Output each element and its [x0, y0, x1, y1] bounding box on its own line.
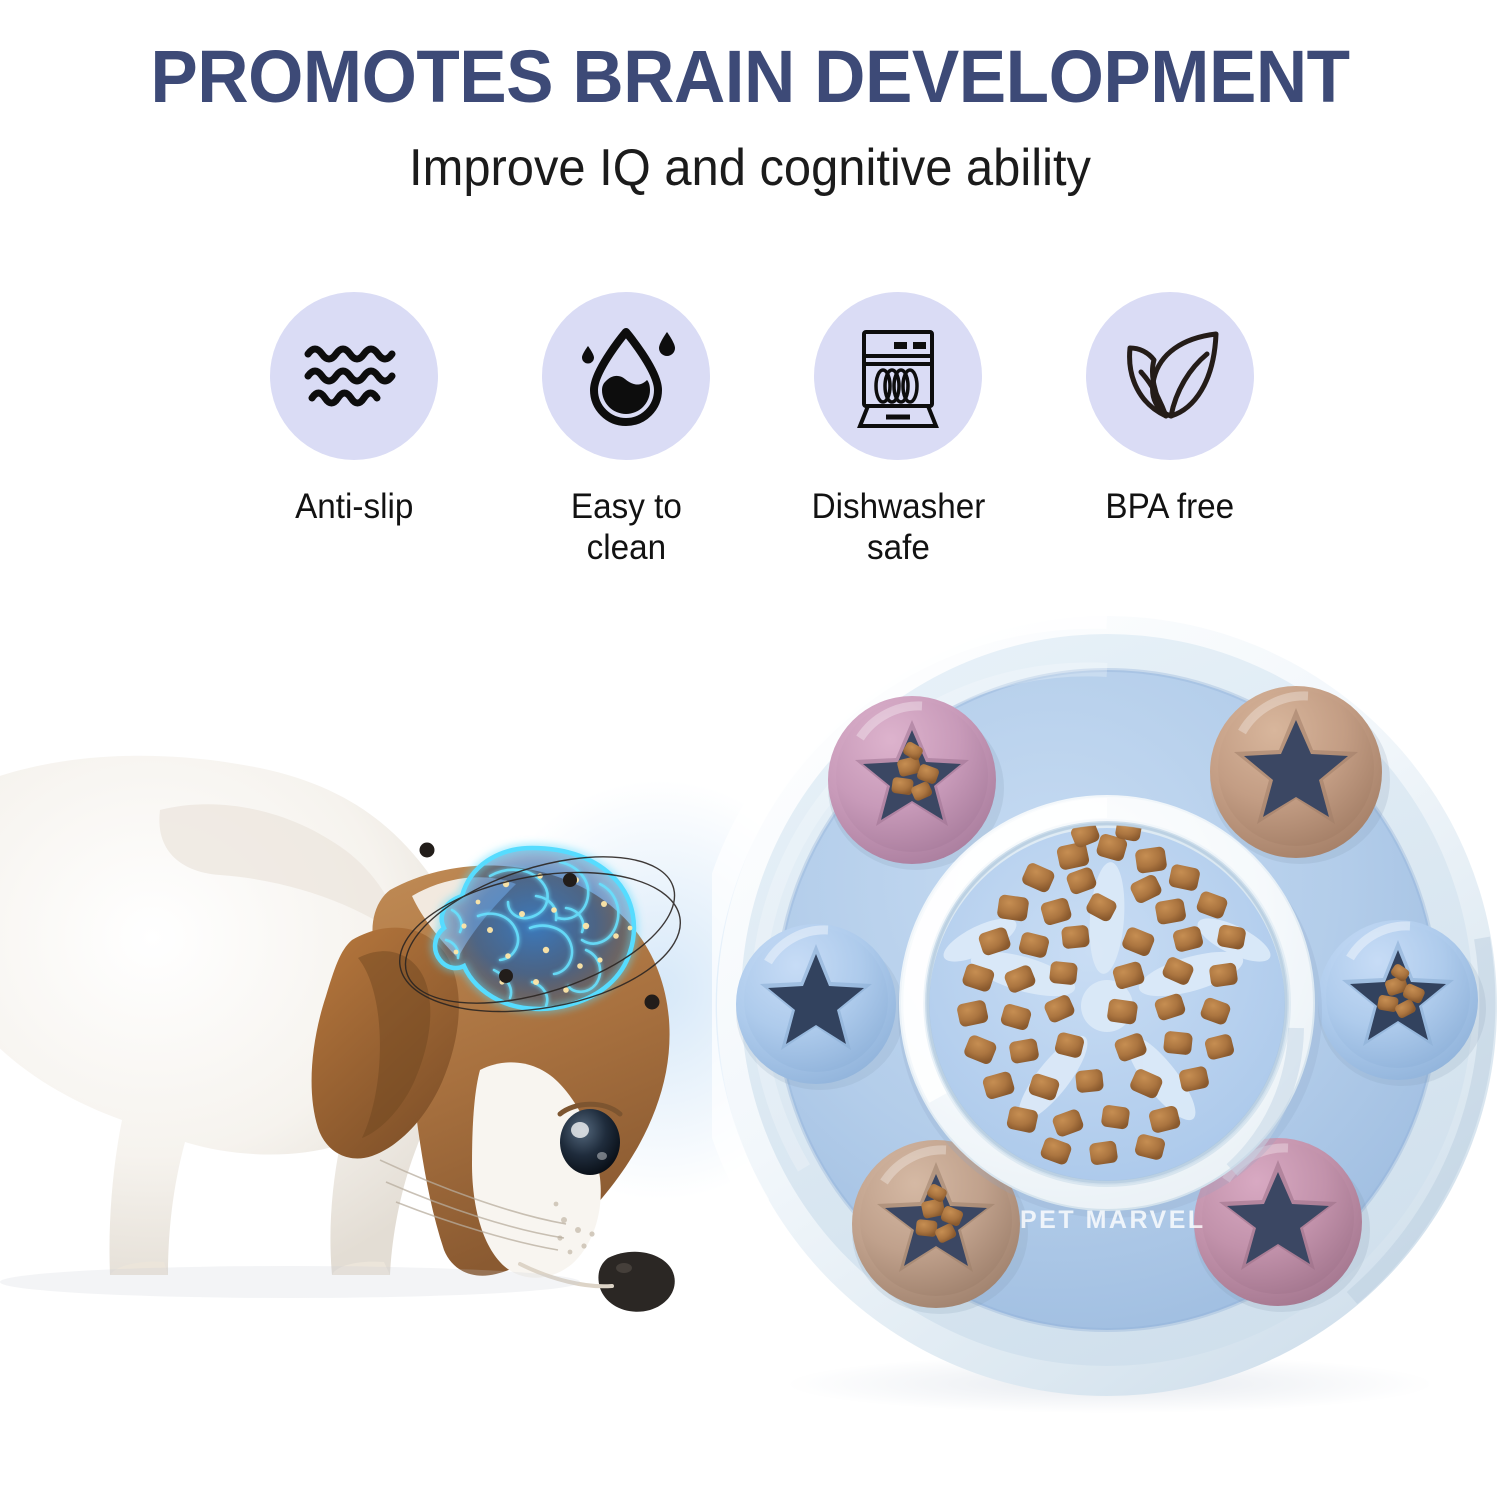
- feature-badge-label: Dishwashersafe: [811, 486, 985, 569]
- waves-icon: [294, 316, 414, 436]
- dishwasher-icon: [838, 316, 958, 436]
- slow-feeder-bowl-illustration: [712, 608, 1500, 1398]
- product-image-slow-feeder-bowl: PET MARVEL: [712, 608, 1500, 1398]
- page-title: PROMOTES BRAIN DEVELOPMENT: [30, 40, 1470, 114]
- feature-badge-bpa-free: BPA free: [1034, 292, 1306, 527]
- feature-badge-label: BPA free: [1106, 486, 1235, 527]
- page-subtitle: Improve IQ and cognitive ability: [45, 140, 1455, 197]
- feature-badge-dishwasher-safe: Dishwashersafe: [762, 292, 1034, 569]
- product-marketing-image: PROMOTES BRAIN DEVELOPMENT Improve IQ an…: [0, 0, 1500, 1500]
- water-drop-icon: [566, 316, 686, 436]
- feature-badges: Anti-slip Easy toclean: [218, 292, 1308, 582]
- badge-circle: [542, 292, 710, 460]
- badge-circle: [270, 292, 438, 460]
- feature-badge-label: Anti-slip: [295, 486, 413, 527]
- feature-badge-label: Easy toclean: [571, 486, 682, 569]
- badge-circle: [1086, 292, 1254, 460]
- dog-photo: [0, 690, 760, 1330]
- leaves-icon: [1110, 316, 1230, 436]
- feature-badge-anti-slip: Anti-slip: [218, 292, 490, 527]
- dog-illustration: [0, 690, 760, 1330]
- badge-circle: [814, 292, 982, 460]
- feature-badge-easy-to-clean: Easy toclean: [490, 292, 762, 569]
